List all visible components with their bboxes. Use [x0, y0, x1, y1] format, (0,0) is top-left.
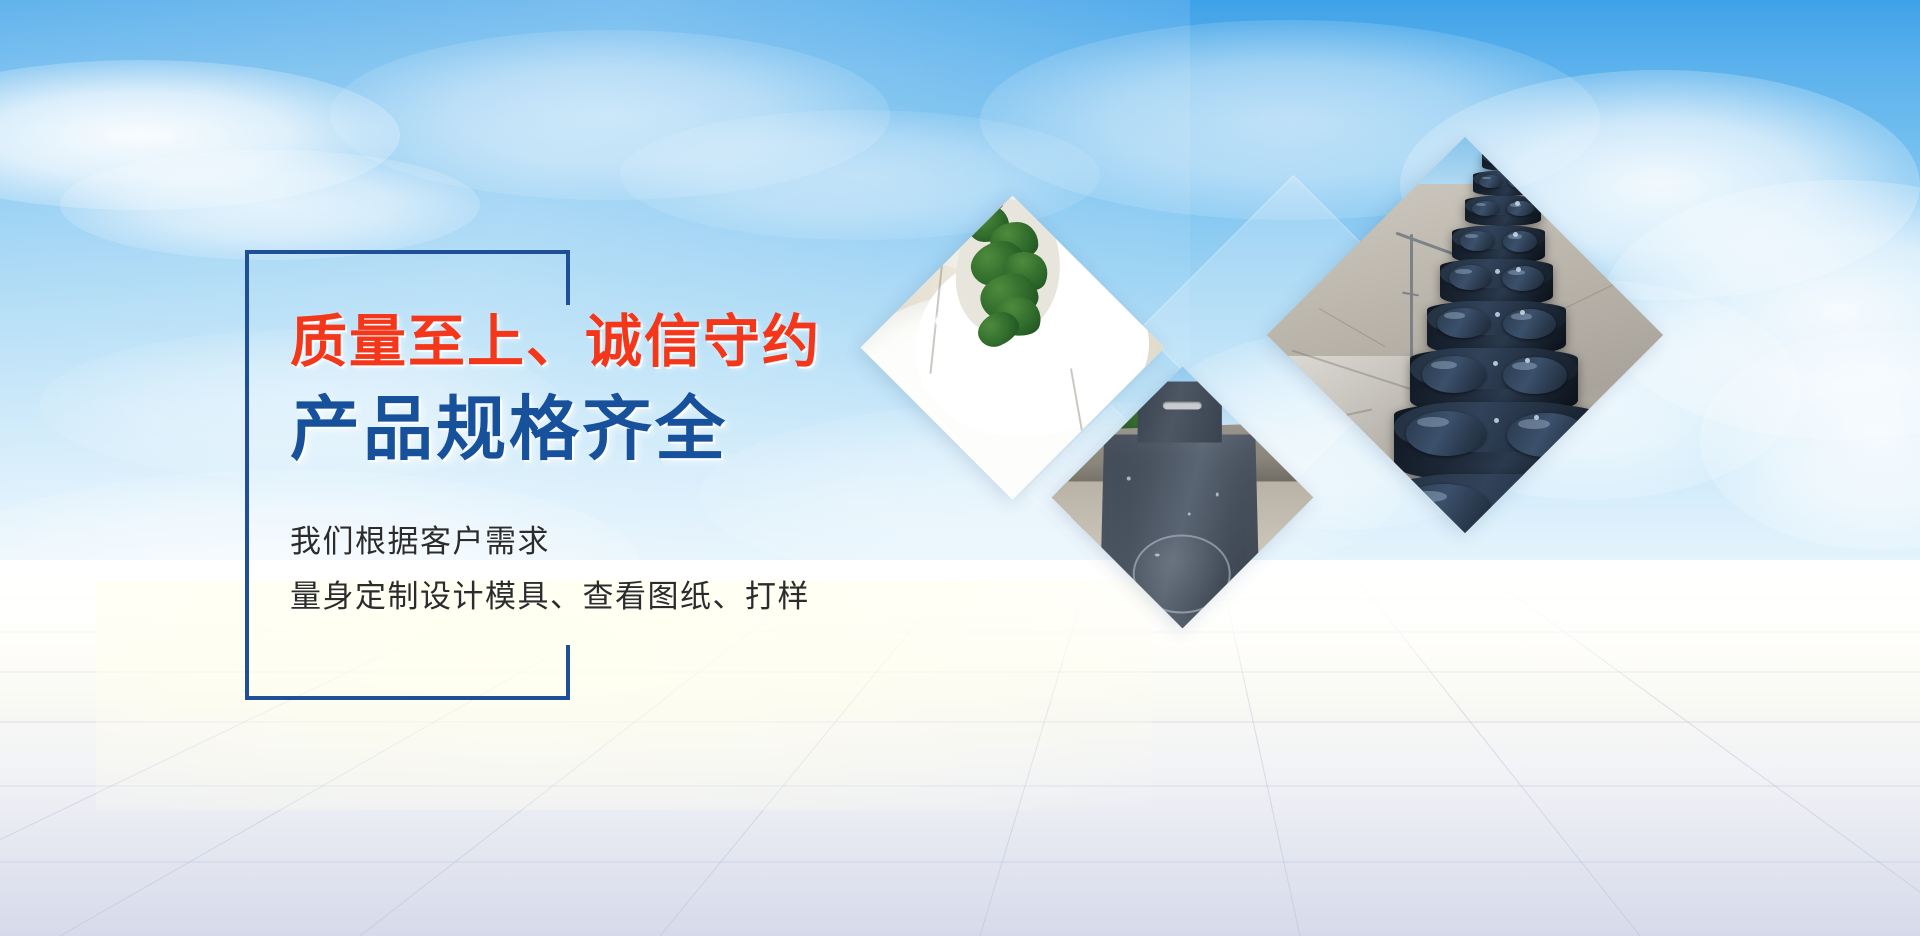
frame-edge-top	[245, 250, 570, 254]
subtitle-group: 我们根据客户需求 量身定制设计模具、查看图纸、打样	[290, 514, 1010, 624]
promo-banner: 质量至上、诚信守约 产品规格齐全 我们根据客户需求 量身定制设计模具、查看图纸、…	[0, 0, 1920, 936]
subtitle-line-1: 我们根据客户需求	[290, 514, 1010, 569]
frame-corner-top-right	[566, 250, 570, 305]
frame-edge-left	[245, 250, 249, 700]
headline-primary-red: 质量至上、诚信守约	[290, 310, 1010, 376]
banner-text-block: 质量至上、诚信守约 产品规格齐全 我们根据客户需求 量身定制设计模具、查看图纸、…	[290, 310, 1010, 624]
frame-corner-bottom-right	[566, 645, 570, 700]
headline-secondary-blue: 产品规格齐全	[290, 390, 1010, 468]
subtitle-line-2: 量身定制设计模具、查看图纸、打样	[290, 569, 1010, 624]
frame-edge-bottom	[245, 696, 570, 700]
